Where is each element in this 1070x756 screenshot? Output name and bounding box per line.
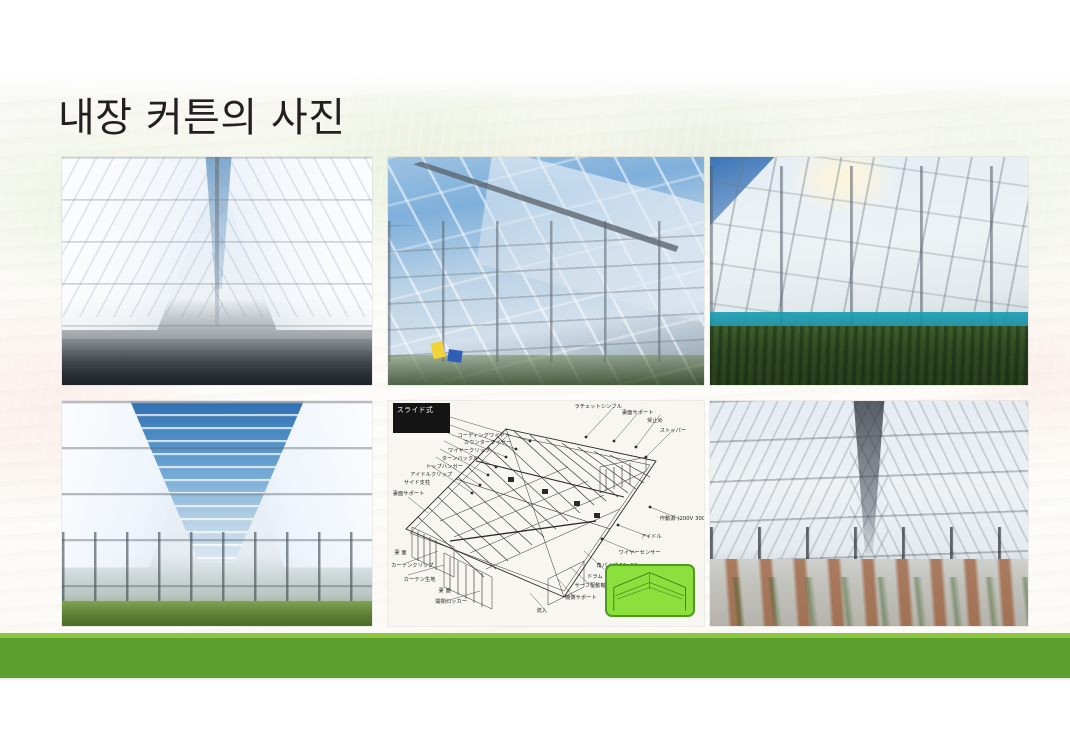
diagram-label: アイドル — [641, 534, 662, 540]
photo-5-diagram[interactable]: スライド式 — [388, 401, 704, 626]
diagram-label: 妻面サポート — [622, 410, 654, 416]
diagram-label: ストッパー — [660, 428, 686, 434]
photo-4-image — [62, 401, 372, 626]
photo-5-image: スライド式 — [388, 401, 704, 626]
diagram-label: カーテンクリップ — [391, 563, 433, 569]
photo-2[interactable] — [388, 157, 704, 385]
footer-bar — [0, 638, 1070, 678]
green-floor — [62, 601, 372, 626]
diagram-label: 開閉ロッカー — [435, 599, 467, 605]
diagram-label: ワイヤークリップ — [448, 448, 490, 454]
page-title: 내장 커튼의 사진 — [58, 92, 346, 144]
photo-4[interactable] — [62, 401, 372, 626]
diagram-label: 機側サポート — [565, 595, 597, 601]
column-row — [710, 166, 1028, 326]
photo-3-image — [710, 157, 1028, 385]
diagram-label: ラチェットシンブル — [574, 404, 621, 410]
diagram-label: コーディングワイヤー — [458, 433, 510, 439]
diagram-label: ターンバックル — [442, 456, 479, 462]
diagram-label: サイド支柱 — [404, 480, 430, 486]
diagram-label: サーブ駆動軸 — [574, 583, 605, 589]
photo-2-image — [388, 157, 704, 385]
photo-6[interactable] — [710, 401, 1028, 626]
section-inset-drawing — [607, 566, 692, 616]
footer-shadow — [0, 678, 1070, 681]
ground-shadow — [62, 339, 372, 385]
diagram-label: カウンターワイヤー — [464, 440, 511, 446]
diagram-label: アイドルクリップ — [410, 472, 452, 478]
photo-gallery: スライド式 — [62, 157, 1028, 626]
diagram-label: ワイヤーセンサー — [619, 550, 661, 556]
blue-sticky-trap — [447, 349, 463, 363]
photo-1[interactable] — [62, 157, 372, 385]
diagram-label: 妻 面 — [439, 588, 451, 594]
seedling-rows — [710, 577, 1028, 627]
diagram-label: トップハンガー — [426, 464, 463, 470]
diagram-label: 受止め — [647, 418, 663, 424]
diagram-label: 作動源 (200V 300W) — [660, 516, 704, 522]
diagram-section-inset — [605, 564, 694, 618]
crop-floor — [388, 355, 704, 385]
pillar-row — [62, 532, 372, 609]
support-posts — [388, 221, 704, 362]
slide-canvas: 내장 커튼의 사진 — [0, 0, 1070, 756]
photo-3[interactable] — [710, 157, 1028, 385]
diagram-label: 妻面サポート — [393, 491, 425, 497]
diagram-label: 妻 面 — [394, 550, 406, 556]
photo-6-image — [710, 401, 1028, 626]
diagram-label: 流入 — [537, 608, 548, 614]
diagram-label: カーテン生地 — [404, 577, 436, 583]
crop-bed — [710, 326, 1028, 385]
diagram-label: ドラム — [587, 574, 603, 580]
photo-1-image — [62, 157, 372, 385]
